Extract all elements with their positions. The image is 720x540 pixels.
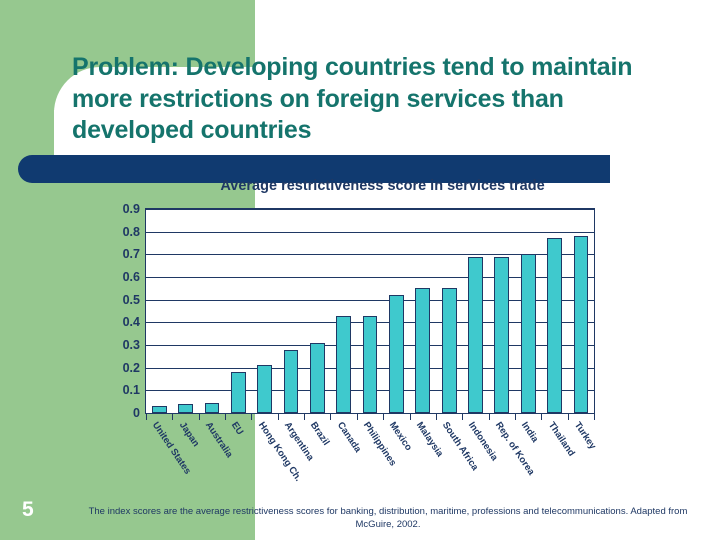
- bar: [521, 254, 536, 413]
- y-axis-tick-label: 0.7: [123, 247, 140, 261]
- bar: [231, 372, 246, 413]
- y-axis-tick-label: 0.1: [123, 383, 140, 397]
- bar-cell: [541, 209, 567, 413]
- bar-cell: [304, 209, 330, 413]
- bar-cell: [383, 209, 409, 413]
- bar-cell: [225, 209, 251, 413]
- bar-cell: [568, 209, 594, 413]
- y-axis-tick-label: 0.9: [123, 202, 140, 216]
- y-axis-tick-label: 0.2: [123, 361, 140, 375]
- x-axis-tick-label: India: [519, 420, 541, 445]
- bar-cell: [489, 209, 515, 413]
- y-axis-labels: 0.90.80.70.60.50.40.30.20.10: [104, 208, 140, 414]
- bar: [363, 316, 378, 413]
- bar-cell: [410, 209, 436, 413]
- bar-cell: [331, 209, 357, 413]
- y-axis-tick-label: 0.3: [123, 338, 140, 352]
- bar-cell: [146, 209, 172, 413]
- x-axis-label-cell: Turkey: [568, 418, 594, 498]
- bar: [442, 288, 457, 413]
- bar: [205, 403, 220, 413]
- bar: [336, 316, 351, 413]
- y-axis-tick-label: 0.8: [123, 225, 140, 239]
- slide: Problem: Developing countries tend to ma…: [0, 0, 720, 540]
- x-axis-tick-label: Brazil: [308, 420, 332, 448]
- bar: [494, 257, 509, 413]
- y-axis-tick-label: 0.4: [123, 315, 140, 329]
- x-axis-label-cell: South Africa: [436, 418, 462, 498]
- bar: [547, 238, 562, 413]
- x-axis-tick-label: Japan: [176, 420, 200, 449]
- y-axis-tick-label: 0: [133, 406, 140, 420]
- x-axis-label-cell: India: [515, 418, 541, 498]
- x-axis-label-cell: Mexico: [383, 418, 409, 498]
- footnote-text: The index scores are the average restric…: [88, 506, 688, 532]
- x-axis-label-cell: Hong Kong Ch.: [251, 418, 277, 498]
- bar: [257, 365, 272, 413]
- bar: [310, 343, 325, 413]
- x-axis-tick: [594, 414, 595, 420]
- slide-number: 5: [22, 498, 34, 522]
- bar: [178, 404, 193, 413]
- bar-cell: [199, 209, 225, 413]
- x-axis-label-cell: Brazil: [304, 418, 330, 498]
- y-axis-tick-label: 0.6: [123, 270, 140, 284]
- bar-cell: [357, 209, 383, 413]
- bar: [468, 257, 483, 413]
- bar-cell: [251, 209, 277, 413]
- bar: [389, 295, 404, 413]
- bar-series: [146, 209, 594, 413]
- bar-cell: [278, 209, 304, 413]
- x-axis-label-cell: Canada: [331, 418, 357, 498]
- page-title: Problem: Developing countries tend to ma…: [72, 52, 672, 147]
- bar: [152, 406, 167, 413]
- bar-cell: [515, 209, 541, 413]
- x-axis-label-cell: Rep. of Korea: [489, 418, 515, 498]
- bar: [284, 350, 299, 413]
- y-axis-tick-label: 0.5: [123, 293, 140, 307]
- x-axis-tick-label: Turkey: [572, 420, 598, 451]
- bar-cell: [172, 209, 198, 413]
- x-axis-tick-label: EU: [229, 420, 246, 437]
- bar: [415, 288, 430, 413]
- x-axis-label-cell: EU: [225, 418, 251, 498]
- x-axis-label-cell: Japan: [172, 418, 198, 498]
- x-axis-label-cell: Indonesia: [462, 418, 488, 498]
- chart-title: Average restrictiveness score in service…: [155, 178, 610, 194]
- bar: [574, 236, 589, 413]
- x-axis-labels: United StatesJapanAustraliaEUHong Kong C…: [146, 418, 594, 498]
- x-axis-label-cell: Thailand: [541, 418, 567, 498]
- x-axis-label-cell: United States: [146, 418, 172, 498]
- x-axis-label-cell: Argentina: [278, 418, 304, 498]
- x-axis-label-cell: Philippines: [357, 418, 383, 498]
- bar-cell: [462, 209, 488, 413]
- chart-container: Average restrictiveness score in service…: [110, 178, 610, 498]
- bar-cell: [436, 209, 462, 413]
- x-axis-label-cell: Malaysia: [410, 418, 436, 498]
- x-axis-label-cell: Australia: [199, 418, 225, 498]
